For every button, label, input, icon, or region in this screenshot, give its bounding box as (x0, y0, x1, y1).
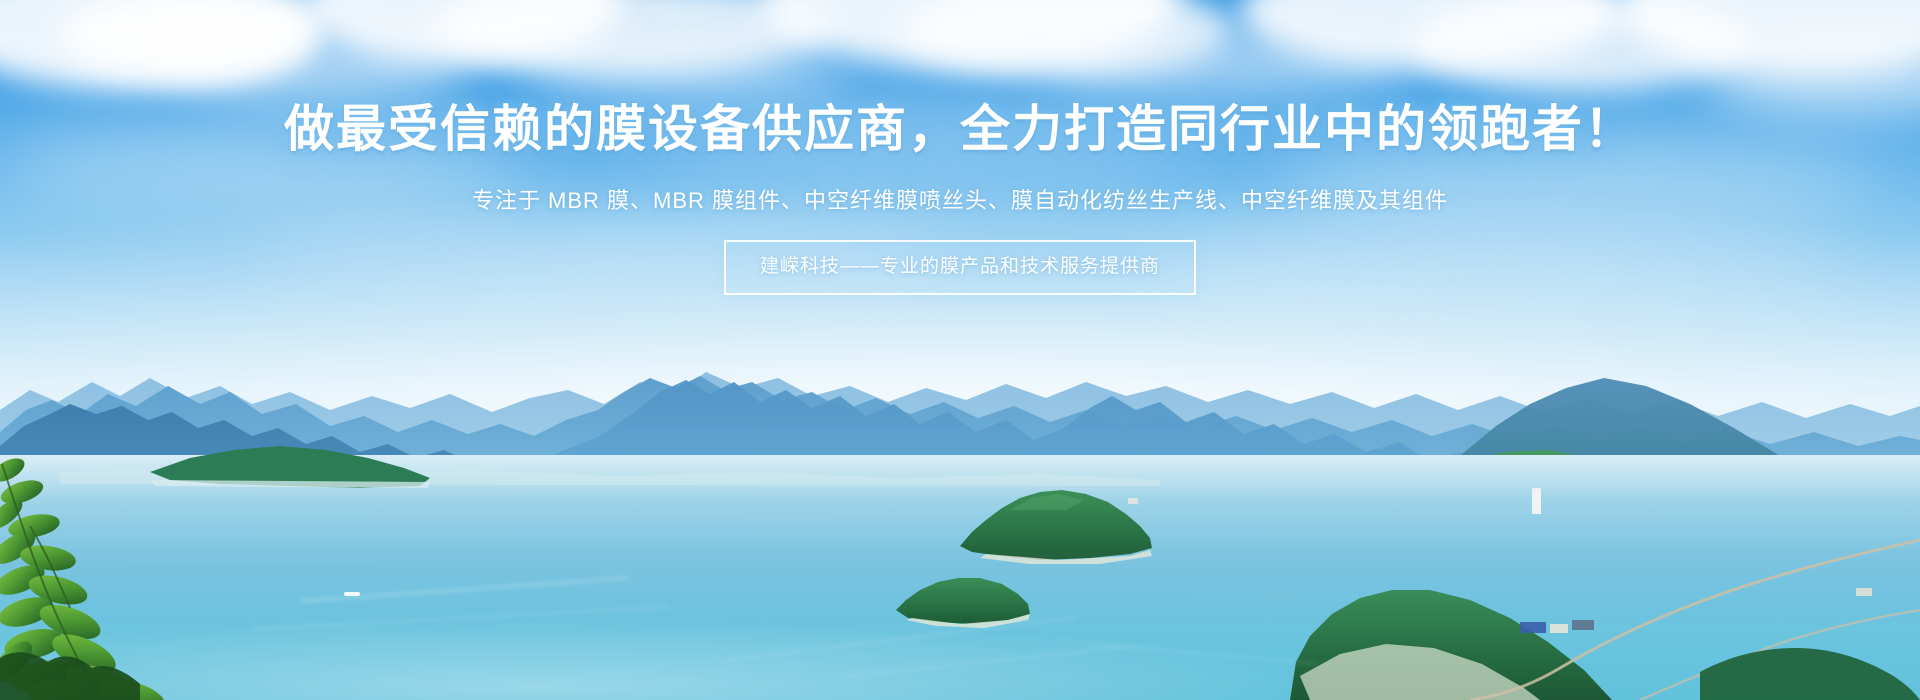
hero-tagline-box: 建嵘科技——专业的膜产品和技术服务提供商 (724, 240, 1196, 295)
hero-copy: 做最受信赖的膜设备供应商，全力打造同行业中的领跑者！ 专注于 MBR 膜、MBR… (0, 0, 1920, 700)
hero-headline: 做最受信赖的膜设备供应商，全力打造同行业中的领跑者！ (0, 101, 1920, 157)
hero-subline: 专注于 MBR 膜、MBR 膜组件、中空纤维膜喷丝头、膜自动化纺丝生产线、中空纤… (0, 186, 1920, 216)
hero-banner: 做最受信赖的膜设备供应商，全力打造同行业中的领跑者！ 专注于 MBR 膜、MBR… (0, 0, 1920, 700)
hero-tagline-wrap: 建嵘科技——专业的膜产品和技术服务提供商 (0, 240, 1920, 295)
